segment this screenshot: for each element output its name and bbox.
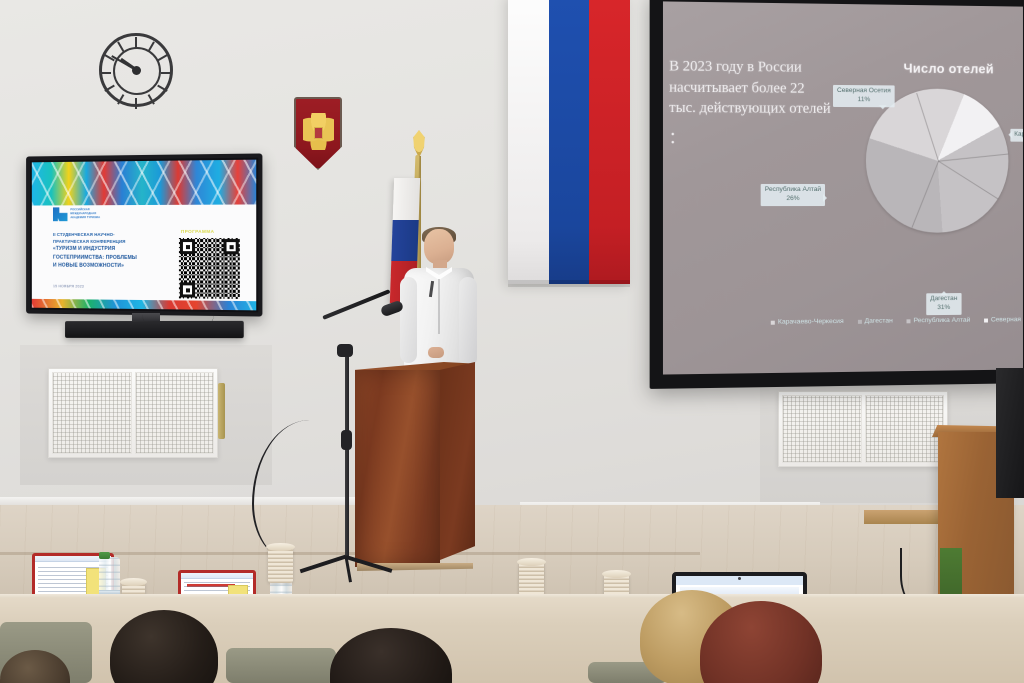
projection-screen-surface: В 2023 году в России насчитывает более 2… [663, 1, 1023, 374]
paper-cup-stack [519, 562, 544, 596]
radiator-cover-left [48, 368, 218, 458]
tv-slide-line5: И НОВЫЕ ВОЗМОЖНОСТИ» [53, 261, 163, 270]
slide-color-bar-bottom [32, 299, 256, 311]
tv-slide-date: 15 НОЯБРЯ 2023 [53, 284, 84, 288]
legend-swatch-icon [984, 318, 988, 322]
tv-slide-line1: II СТУДЕНЧЕСКАЯ НАУЧНО- [53, 231, 163, 238]
pie-label-name: Республика Алтай [765, 186, 821, 195]
russian-tricolor-banner [508, 0, 630, 284]
projection-screen: В 2023 году в России насчитывает более 2… [650, 0, 1024, 389]
tv-slide-line3: «ТУРИЗМ И ИНДУСТРИЯ [53, 245, 163, 253]
slide-bullet-marks: •• [671, 130, 674, 146]
legend-item: Дагестан [858, 317, 893, 324]
legend-item: Карачаево-Черкесия [771, 318, 844, 326]
soundbar [65, 321, 244, 338]
conference-hall-photo: РОССИЙСКАЯ МЕЖДУНАРОДНАЯ АКАДЕМИЯ ТУРИЗМ… [0, 0, 1024, 683]
dark-monitor [996, 368, 1024, 498]
radiator-grille-panel [865, 395, 945, 463]
pie-label-name: Северная Осетия [837, 87, 891, 96]
tv-slide-line4: ГОСТЕПРИИМСТВА: ПРОБЛЕМЫ [53, 253, 163, 262]
banner-stripe-red [589, 0, 630, 284]
pie-label-percent: 11% [837, 96, 891, 105]
bottle-cap [99, 552, 110, 559]
riat-logo: РОССИЙСКАЯ МЕЖДУНАРОДНАЯ АКАДЕМИЯ ТУРИЗМ… [53, 207, 100, 221]
legend-swatch-icon [771, 320, 775, 324]
riat-logo-mark [53, 207, 67, 221]
wooden-podium [355, 362, 475, 567]
podium-front-panel [355, 370, 440, 567]
presenter-hand [428, 347, 444, 358]
legend-label: Республика Алтай [914, 317, 971, 325]
laptop-webcam-icon [738, 577, 741, 580]
presenter-right-arm [459, 277, 477, 367]
radiator-grille-panel [52, 372, 132, 454]
pie-label-respublika-altai: Республика Алтай 26% [761, 184, 825, 206]
pie-label-percent: 31% [930, 304, 957, 313]
pie-chart [866, 88, 1009, 233]
radiator-cover-right [778, 391, 948, 467]
tv-slide-title: II СТУДЕНЧЕСКАЯ НАУЧНО- ПРАКТИЧЕСКАЯ КОН… [53, 231, 163, 270]
microphone-stand-joint [337, 344, 353, 357]
legend-item: Северная Осетия [984, 316, 1023, 324]
presenter-left-arm [400, 277, 417, 363]
qr-code-icon [179, 238, 240, 299]
russian-coat-of-arms-icon [294, 97, 342, 170]
radiator-grille-panel [135, 372, 215, 454]
laptop-app-toolbar [181, 573, 253, 579]
riat-logo-text: РОССИЙСКАЯ МЕЖДУНАРОДНАЯ АКАДЕМИЯ ТУРИЗМ… [70, 208, 100, 220]
paper-cup-stack [268, 547, 293, 583]
clock-hub [132, 66, 141, 75]
pie-label-name-truncated: Кар [1014, 131, 1023, 140]
tv-slide-program-label: ПРОГРАММА [181, 229, 214, 234]
banner-stripe-white [508, 0, 549, 284]
flag-stripe-white [393, 178, 420, 220]
chair-back [226, 648, 336, 683]
legend-label: Карачаево-Черкесия [778, 318, 844, 326]
legend-item: Республика Алтай [907, 317, 971, 325]
legend-label: Дагестан [865, 317, 893, 324]
wall-mounted-tv: РОССИЙСКАЯ МЕЖДУНАРОДНАЯ АКАДЕМИЯ ТУРИЗМ… [26, 153, 262, 316]
microphone-stand-pole [345, 344, 349, 559]
legend-swatch-icon [858, 319, 862, 323]
presenter [398, 229, 478, 374]
legend-swatch-icon [907, 319, 911, 323]
microphone-stand-collar [341, 430, 352, 450]
chart-legend: Карачаево-Черкесия Дагестан Республика А… [771, 316, 1023, 326]
pie-label-percent: 26% [765, 195, 821, 204]
chart-title: Число отелей [875, 60, 1022, 76]
pie-label-dagestan: Дагестан 31% [926, 293, 961, 315]
pie-label-name: Дагестан [930, 295, 957, 304]
coat-center-escutcheon [314, 127, 323, 139]
legend-label: Северная Осетия [991, 316, 1023, 323]
slide-photo-mosaic-top [32, 160, 256, 206]
wall-clock-icon [99, 33, 173, 107]
banner-stripe-blue [549, 0, 590, 284]
radiator-grille-panel [782, 395, 862, 463]
radiator-valve [218, 383, 225, 439]
pie-label-karachaevo-cherkesia: Кар [1010, 129, 1023, 142]
tv-screen: РОССИЙСКАЯ МЕЖДУНАРОДНАЯ АКАДЕМИЯ ТУРИЗМ… [32, 160, 256, 311]
banner-hem [508, 280, 630, 287]
presenter-head [424, 229, 454, 264]
slide-body-text: В 2023 году в России насчитывает более 2… [669, 56, 831, 119]
presenter-shirt-placket [438, 279, 440, 334]
podium-side-panel [440, 362, 475, 560]
pie-label-severnaya-osetia: Северная Осетия 11% [833, 85, 895, 107]
